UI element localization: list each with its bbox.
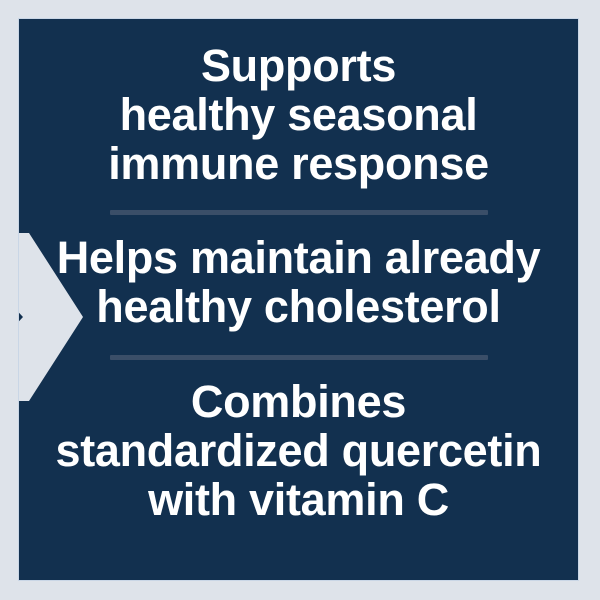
benefit-item-immune-response: Supports healthy seasonal immune respons… [19, 41, 578, 188]
benefit-divider [110, 210, 488, 215]
benefit-item-cholesterol: Helps maintain already healthy cholester… [19, 233, 578, 331]
benefit-divider [110, 355, 488, 360]
benefit-item-quercetin-vitamin-c: Combines standardized quercetin with vit… [19, 377, 578, 524]
benefits-content: Supports healthy seasonal immune respons… [19, 19, 578, 580]
benefits-callout-graphic: Supports healthy seasonal immune respons… [0, 0, 600, 600]
